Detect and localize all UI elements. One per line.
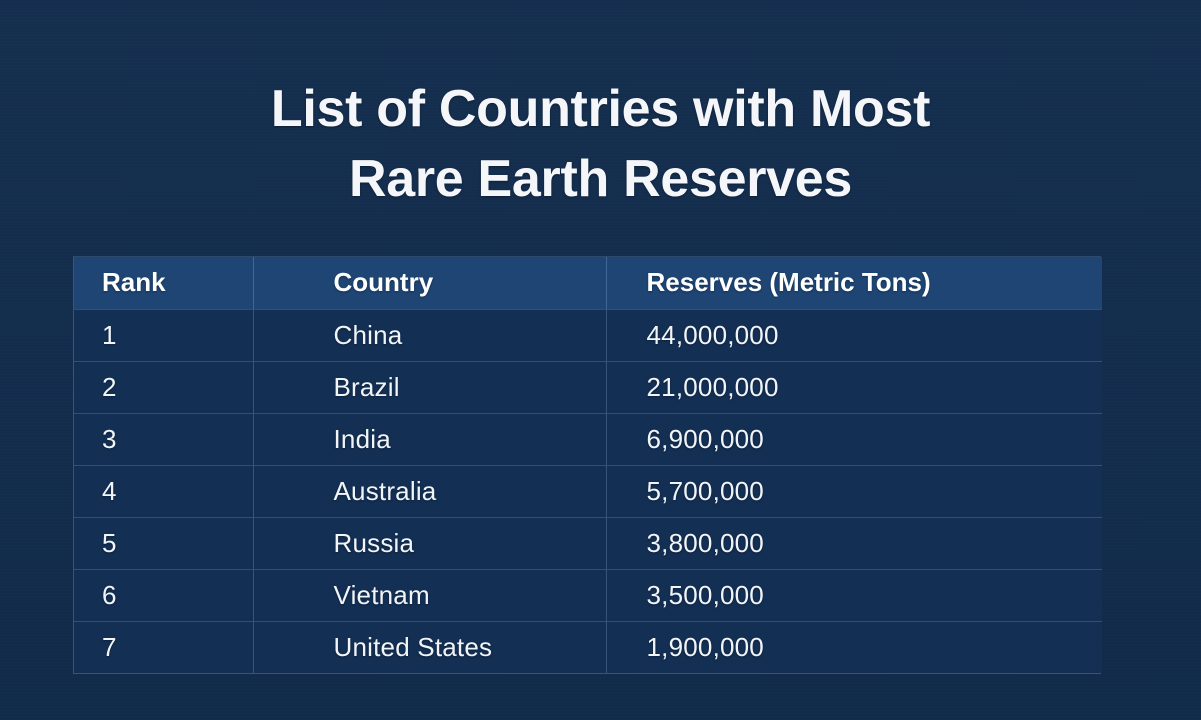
column-header-country: Country <box>253 257 606 309</box>
cell-rank: 7 <box>74 621 253 673</box>
cell-reserves: 1,900,000 <box>606 621 1102 673</box>
cell-reserves: 3,800,000 <box>606 517 1102 569</box>
cell-rank: 1 <box>74 309 253 361</box>
table-row: 2 Brazil 21,000,000 <box>74 361 1102 413</box>
cell-rank: 5 <box>74 517 253 569</box>
cell-reserves: 21,000,000 <box>606 361 1102 413</box>
table-row: 4 Australia 5,700,000 <box>74 465 1102 517</box>
cell-country: Russia <box>253 517 606 569</box>
cell-reserves: 44,000,000 <box>606 309 1102 361</box>
cell-country: Brazil <box>253 361 606 413</box>
page-title: List of Countries with Most Rare Earth R… <box>0 74 1201 214</box>
cell-country: India <box>253 413 606 465</box>
cell-rank: 6 <box>74 569 253 621</box>
table-row: 1 China 44,000,000 <box>74 309 1102 361</box>
cell-reserves: 3,500,000 <box>606 569 1102 621</box>
cell-reserves: 5,700,000 <box>606 465 1102 517</box>
cell-rank: 4 <box>74 465 253 517</box>
page-title-line-1: List of Countries with Most <box>0 74 1201 144</box>
table-body: 1 China 44,000,000 2 Brazil 21,000,000 3… <box>74 309 1102 673</box>
table-row: 7 United States 1,900,000 <box>74 621 1102 673</box>
cell-reserves: 6,900,000 <box>606 413 1102 465</box>
page-title-line-2: Rare Earth Reserves <box>0 144 1201 214</box>
reserves-table: Rank Country Reserves (Metric Tons) 1 Ch… <box>74 257 1102 673</box>
reserves-table-container: Rank Country Reserves (Metric Tons) 1 Ch… <box>73 256 1101 674</box>
table-row: 3 India 6,900,000 <box>74 413 1102 465</box>
table-row: 6 Vietnam 3,500,000 <box>74 569 1102 621</box>
cell-rank: 3 <box>74 413 253 465</box>
table-header-row: Rank Country Reserves (Metric Tons) <box>74 257 1102 309</box>
cell-rank: 2 <box>74 361 253 413</box>
infographic-page: List of Countries with Most Rare Earth R… <box>0 0 1201 720</box>
cell-country: United States <box>253 621 606 673</box>
column-header-reserves: Reserves (Metric Tons) <box>606 257 1102 309</box>
cell-country: Australia <box>253 465 606 517</box>
cell-country: Vietnam <box>253 569 606 621</box>
table-row: 5 Russia 3,800,000 <box>74 517 1102 569</box>
table-header: Rank Country Reserves (Metric Tons) <box>74 257 1102 309</box>
column-header-rank: Rank <box>74 257 253 309</box>
cell-country: China <box>253 309 606 361</box>
